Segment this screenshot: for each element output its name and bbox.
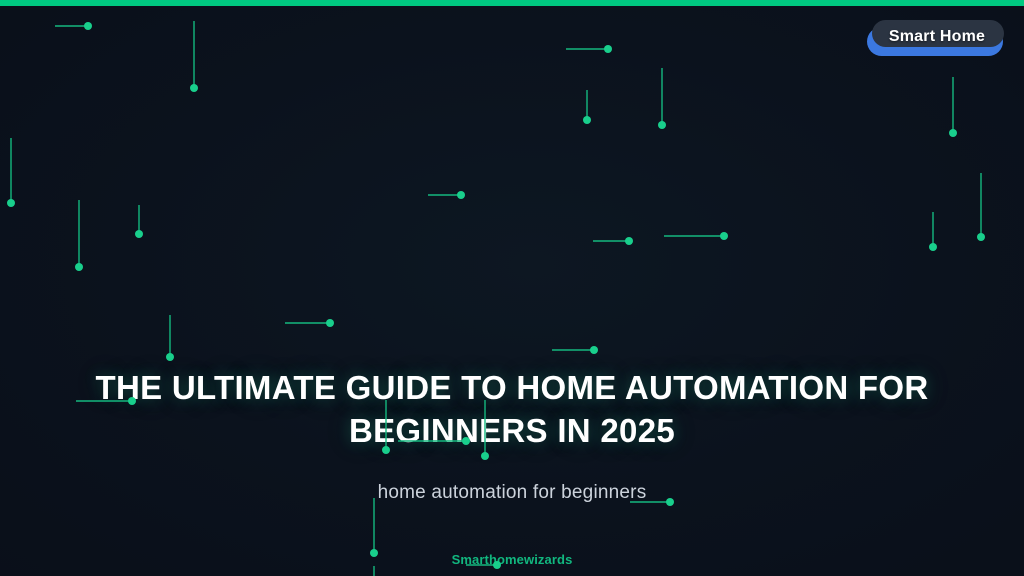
circuit-trace-dot xyxy=(370,549,378,557)
circuit-trace-dot xyxy=(190,84,198,92)
circuit-trace-dot xyxy=(135,230,143,238)
page-subtitle: home automation for beginners xyxy=(112,482,912,504)
circuit-trace-dot xyxy=(583,116,591,124)
page-title-line-1: THE ULTIMATE GUIDE TO HOME AUTOMATION FO… xyxy=(96,369,929,406)
circuit-trace-dot xyxy=(128,397,136,405)
circuit-trace-dot xyxy=(929,243,937,251)
circuit-trace-dot xyxy=(457,191,465,199)
hero-canvas: THE ULTIMATE GUIDE TO HOME AUTOMATION FO… xyxy=(0,0,1024,576)
circuit-trace-dot xyxy=(382,446,390,454)
page-title: THE ULTIMATE GUIDE TO HOME AUTOMATION FO… xyxy=(62,366,962,452)
circuit-trace-dot xyxy=(166,353,174,361)
circuit-trace-dot xyxy=(604,45,612,53)
circuit-trace-dot xyxy=(658,121,666,129)
circuit-trace-dot xyxy=(590,346,598,354)
circuit-trace-dot xyxy=(625,237,633,245)
circuit-trace-dot xyxy=(481,452,489,460)
circuit-trace-dot xyxy=(75,263,83,271)
circuit-trace-dot xyxy=(84,22,92,30)
circuit-trace-dot xyxy=(666,498,674,506)
category-badge[interactable]: Smart Home xyxy=(867,20,1007,56)
circuit-trace-dot xyxy=(977,233,985,241)
brand-name: Smarthomewizards xyxy=(212,552,812,567)
circuit-trace-dot xyxy=(462,437,470,445)
circuit-trace-layer-front xyxy=(0,0,1024,576)
circuit-trace-dot xyxy=(720,232,728,240)
circuit-trace-dot xyxy=(7,199,15,207)
circuit-trace-layer-back xyxy=(0,0,1024,576)
circuit-trace-dot xyxy=(493,561,501,569)
top-accent-bar xyxy=(0,0,1024,6)
page-title-line-2: BEGINNERS IN 2025 xyxy=(349,412,675,449)
circuit-trace-dot xyxy=(326,319,334,327)
hero-content: THE ULTIMATE GUIDE TO HOME AUTOMATION FO… xyxy=(0,0,1024,576)
circuit-trace-dot xyxy=(949,129,957,137)
badge-label: Smart Home xyxy=(867,20,1007,53)
